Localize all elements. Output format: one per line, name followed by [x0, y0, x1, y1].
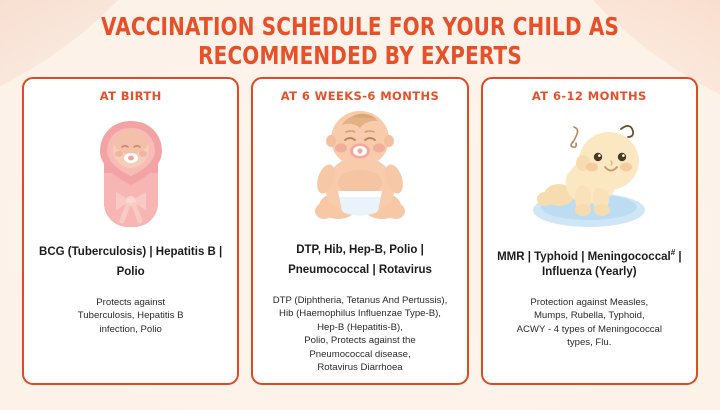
card-heading: AT 6-12 MONTHS — [532, 89, 647, 103]
card-description: Protection against Measles, Mumps, Rubel… — [513, 296, 666, 350]
schedule-card-6-12-months: AT 6-12 MONTHS — [481, 77, 698, 385]
schedule-card-6-weeks-6-months: AT 6 WEEKS-6 MONTHS — [251, 77, 468, 385]
card-vaccines-text: MMR | Typhoid | Meningococcal — [497, 251, 671, 263]
page-title-line-2: RECOMMENDED BY EXPERTS — [72, 41, 648, 70]
page-title: VACCINATION SCHEDULE FOR YOUR CHILD AS R… — [72, 0, 648, 70]
card-description: DTP (Diphtheria, Tetanus And Pertussis),… — [269, 294, 452, 375]
card-description: Protects against Tuberculosis, Hepatitis… — [74, 296, 188, 337]
schedule-card-list: AT BIRTH — [0, 70, 720, 385]
music-note-icon — [571, 127, 578, 147]
card-vaccines: BCG (Tuberculosis) | Hepatitis B | Polio — [34, 245, 227, 280]
schedule-card-at-birth: AT BIRTH — [22, 77, 239, 385]
infographic-poster: VACCINATION SCHEDULE FOR YOUR CHILD AS R… — [0, 0, 720, 410]
sitting-baby-illustration — [263, 107, 456, 227]
card-vaccines-text: DTP, Hib, Hep-B, Polio | Pneumococcal | … — [288, 244, 432, 276]
crawling-baby-illustration — [493, 107, 686, 229]
card-vaccines-text: BCG (Tuberculosis) | Hepatitis B | Polio — [39, 246, 222, 278]
page-title-line-1: VACCINATION SCHEDULE FOR YOUR CHILD AS — [72, 12, 648, 41]
card-vaccines: MMR | Typhoid | Meningococcal# | Influen… — [493, 245, 686, 280]
card-heading: AT BIRTH — [100, 89, 162, 103]
card-vaccines: DTP, Hib, Hep-B, Polio | Pneumococcal | … — [263, 243, 456, 278]
card-heading: AT 6 WEEKS-6 MONTHS — [281, 89, 439, 103]
swaddled-newborn-illustration — [34, 107, 227, 229]
